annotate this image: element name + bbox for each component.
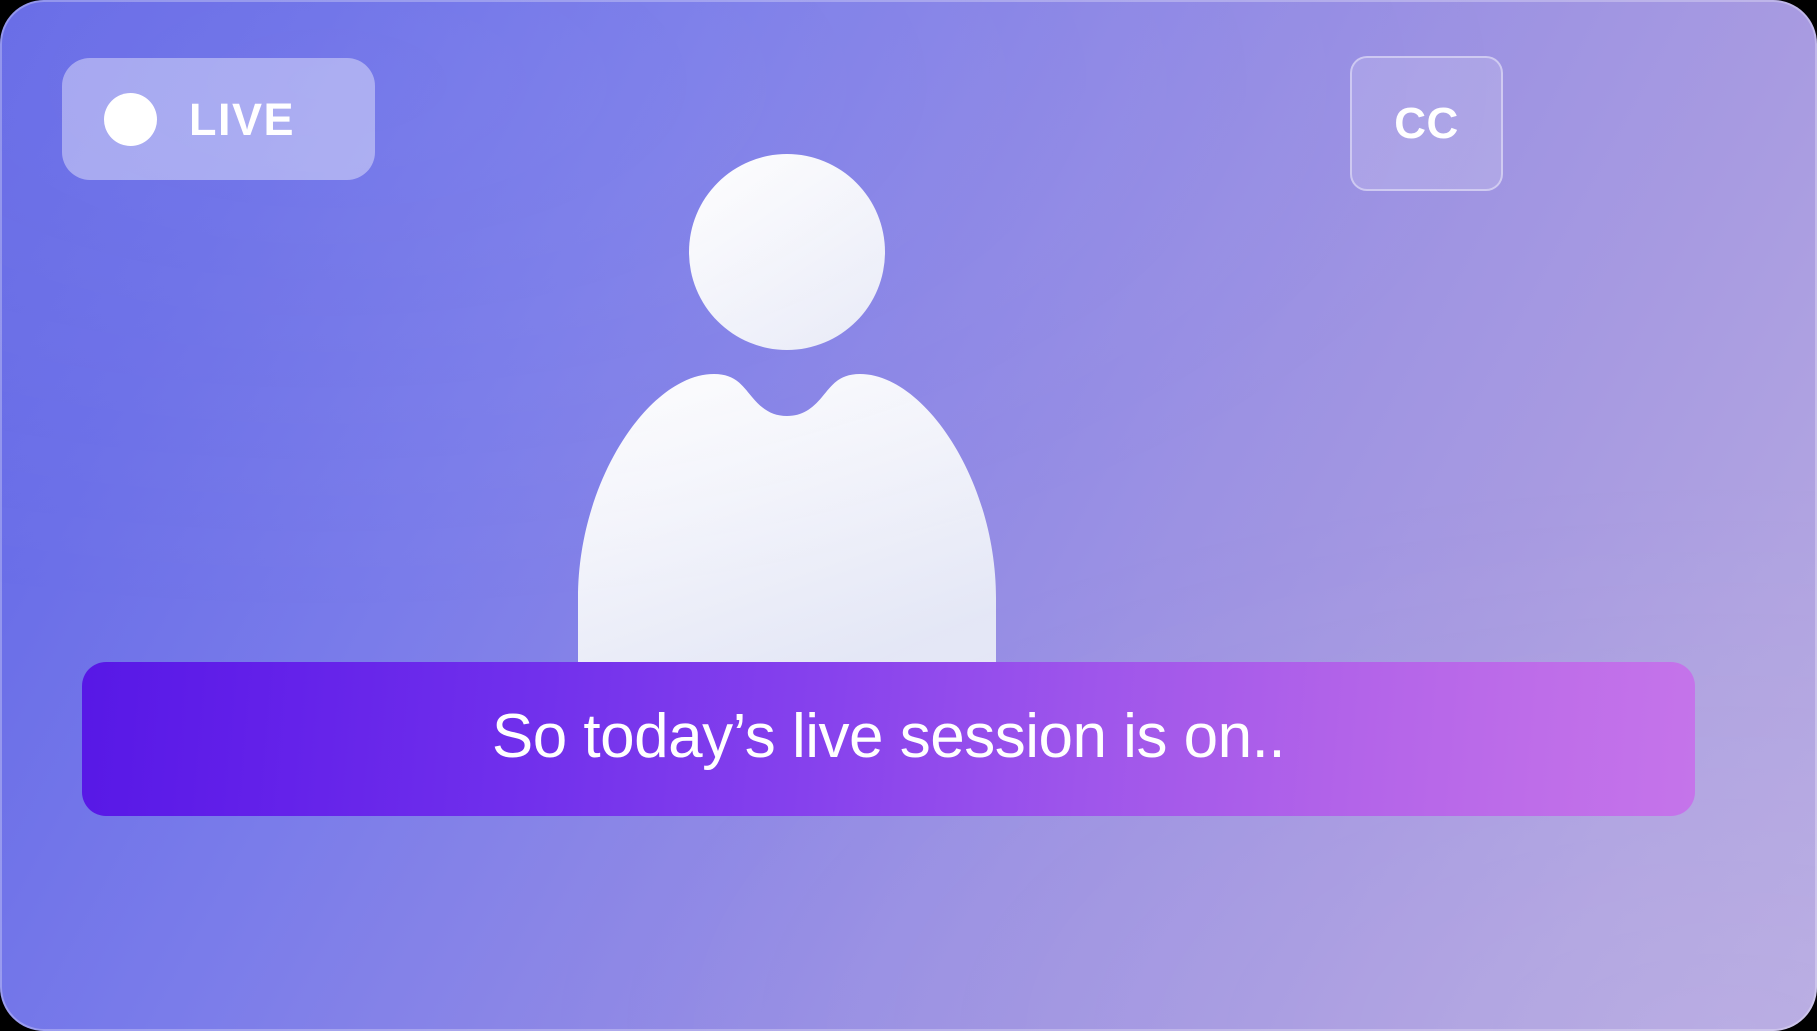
caption-bar: So today’s live session is on.. <box>82 662 1695 816</box>
recording-dot-icon <box>104 93 157 146</box>
closed-captions-button[interactable]: CC <box>1350 56 1503 191</box>
caption-text: So today’s live session is on.. <box>492 706 1285 772</box>
live-badge-label: LIVE <box>189 97 295 142</box>
live-caption-card: LIVE CC So today’s live session is on.. <box>0 0 1817 1031</box>
closed-captions-icon: CC <box>1394 102 1459 146</box>
live-badge[interactable]: LIVE <box>62 58 375 180</box>
